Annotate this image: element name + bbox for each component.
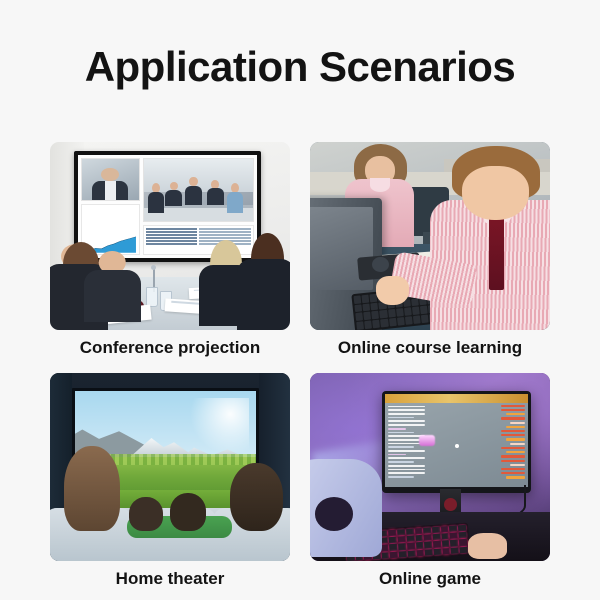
remote-participant — [185, 177, 201, 205]
presenter-shirt — [105, 181, 116, 200]
remote-participant — [165, 182, 181, 207]
game-effect — [419, 435, 435, 446]
scenario-image-conference-projection — [50, 142, 290, 330]
viewer-child-right — [170, 493, 206, 531]
text-column-left — [146, 228, 198, 252]
remote-meeting-feed — [143, 158, 255, 222]
attendee-front-right — [237, 236, 290, 330]
bar-chart — [84, 207, 136, 228]
scenario-card-online-game: Online game — [310, 373, 550, 600]
remote-participant — [227, 183, 243, 213]
scenario-grid: Conference projection — [50, 142, 550, 599]
game-screen — [385, 394, 528, 487]
player-hand — [468, 533, 506, 559]
player-hood — [315, 497, 353, 531]
remote-participant — [148, 183, 164, 213]
application-scenarios-page: Application Scenarios — [0, 0, 600, 600]
computer-mouse — [372, 257, 389, 272]
game-top-bar — [385, 394, 528, 402]
page-title: Application Scenarios — [0, 46, 600, 88]
sun-glow — [187, 398, 249, 452]
caption-conference-projection: Conference projection — [50, 330, 290, 369]
caption-online-course-learning: Online course learning — [310, 330, 550, 369]
presenter-video-tile — [81, 158, 140, 201]
remote-participant — [207, 180, 223, 205]
gaming-monitor — [382, 391, 531, 493]
scenario-card-online-course-learning: Online course learning — [310, 142, 550, 369]
secondary-bar-row — [84, 229, 136, 234]
game-cursor — [455, 444, 459, 448]
viewer-man — [230, 474, 283, 530]
scenario-image-online-game — [310, 373, 550, 561]
scenario-image-online-course-learning — [310, 142, 550, 330]
viewer-woman — [64, 467, 119, 531]
presenter-head — [101, 168, 119, 182]
caption-online-game: Online game — [310, 561, 550, 600]
scenario-card-home-theater: Home theater — [50, 373, 290, 600]
attendee-left — [84, 251, 142, 322]
game-chat-right — [501, 405, 525, 479]
scenario-card-conference-projection: Conference projection — [50, 142, 290, 369]
student-boy — [430, 146, 550, 326]
viewer-child-left — [129, 497, 163, 531]
scenario-image-home-theater — [50, 373, 290, 561]
caption-home-theater: Home theater — [50, 561, 290, 600]
